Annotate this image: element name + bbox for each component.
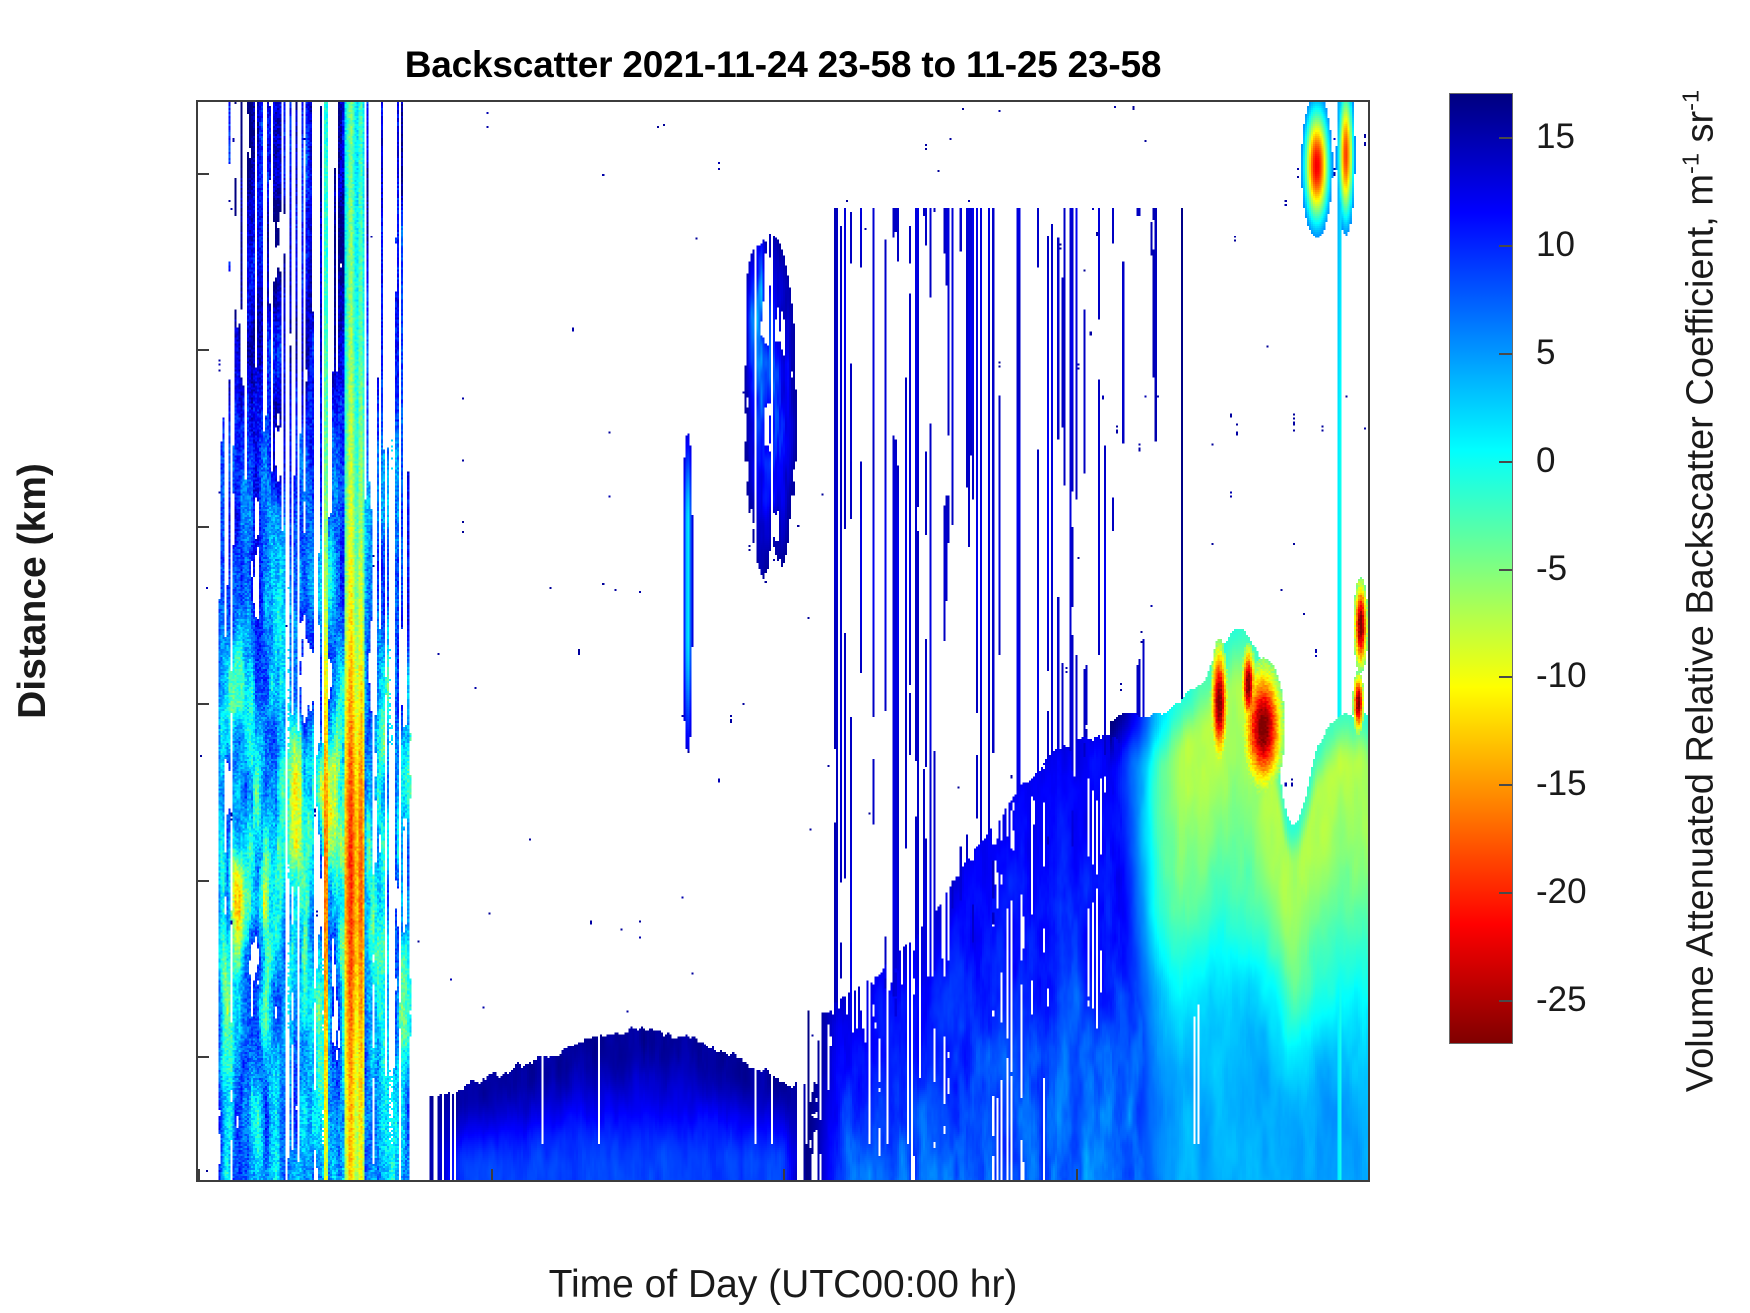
y-axis-tick xyxy=(198,1056,209,1058)
colorbar-tick xyxy=(1499,1000,1512,1002)
y-axis-tick xyxy=(198,880,209,882)
colorbar-tick-label: -5 xyxy=(1536,549,1567,589)
y-axis-tick-outer xyxy=(196,1056,198,1058)
y-axis-tick xyxy=(198,173,209,175)
colorbar-tick xyxy=(1499,892,1512,894)
colorbar-tick xyxy=(1499,245,1512,247)
y-axis-tick-outer xyxy=(196,880,198,882)
colorbar-tick-label: 10 xyxy=(1536,225,1575,265)
figure-root: Backscatter 2021-11-24 23-58 to 11-25 23… xyxy=(0,0,1750,1313)
plot-axes: 0.511.522.5300:0006:0012:0018:0000:00 xyxy=(196,100,1370,1182)
y-axis-tick-outer xyxy=(196,526,198,528)
x-axis-label: Time of Day (UTC00:00 hr) xyxy=(549,1263,1018,1307)
x-axis-tick-outer xyxy=(783,1180,785,1182)
x-axis-tick xyxy=(783,1169,785,1180)
colorbar-label-mid: sr xyxy=(1679,111,1721,153)
chart-title: Backscatter 2021-11-24 23-58 to 11-25 23… xyxy=(196,44,1370,86)
y-axis-tick xyxy=(198,703,209,705)
y-axis-tick xyxy=(198,349,209,351)
y-axis-tick-outer xyxy=(196,349,198,351)
colorbar-tick-label: 15 xyxy=(1536,117,1575,157)
x-axis-tick-outer xyxy=(198,1180,200,1182)
heatmap-area xyxy=(198,102,1368,1180)
y-axis-tick-outer xyxy=(196,703,198,705)
y-axis-label: Distance (km) xyxy=(11,463,55,719)
colorbar-tick-label: -20 xyxy=(1536,872,1587,912)
backscatter-heatmap xyxy=(198,102,1368,1180)
colorbar-tick-label: 0 xyxy=(1536,441,1555,481)
y-axis-tick-outer xyxy=(196,173,198,175)
colorbar-tick xyxy=(1499,353,1512,355)
colorbar-label: Volume Attenuated Relative Backscatter C… xyxy=(1678,90,1723,1092)
colorbar-tick-label: -15 xyxy=(1536,764,1587,804)
colorbar-tick-label: -25 xyxy=(1536,980,1587,1020)
x-axis-tick xyxy=(1076,1169,1078,1180)
colorbar-tick-label: -10 xyxy=(1536,656,1587,696)
colorbar: 151050-5-10-15-20-25 xyxy=(1449,93,1513,1044)
colorbar-tick xyxy=(1499,569,1512,571)
x-axis-tick-outer xyxy=(1076,1180,1078,1182)
colorbar-tick-label: 5 xyxy=(1536,333,1555,373)
colorbar-label-exp1: -1 xyxy=(1678,153,1704,174)
y-axis-tick xyxy=(198,526,209,528)
x-axis-tick xyxy=(1368,1169,1370,1180)
colorbar-label-text: Volume Attenuated Relative Backscatter C… xyxy=(1679,174,1721,1092)
x-axis-tick-outer xyxy=(1368,1180,1370,1182)
x-axis-tick xyxy=(491,1169,493,1180)
colorbar-label-exp2: -1 xyxy=(1678,90,1704,111)
colorbar-tick xyxy=(1499,461,1512,463)
colorbar-tick xyxy=(1499,784,1512,786)
x-axis-tick xyxy=(198,1169,200,1180)
x-axis-tick-outer xyxy=(491,1180,493,1182)
colorbar-tick xyxy=(1499,137,1512,139)
colorbar-tick xyxy=(1499,676,1512,678)
